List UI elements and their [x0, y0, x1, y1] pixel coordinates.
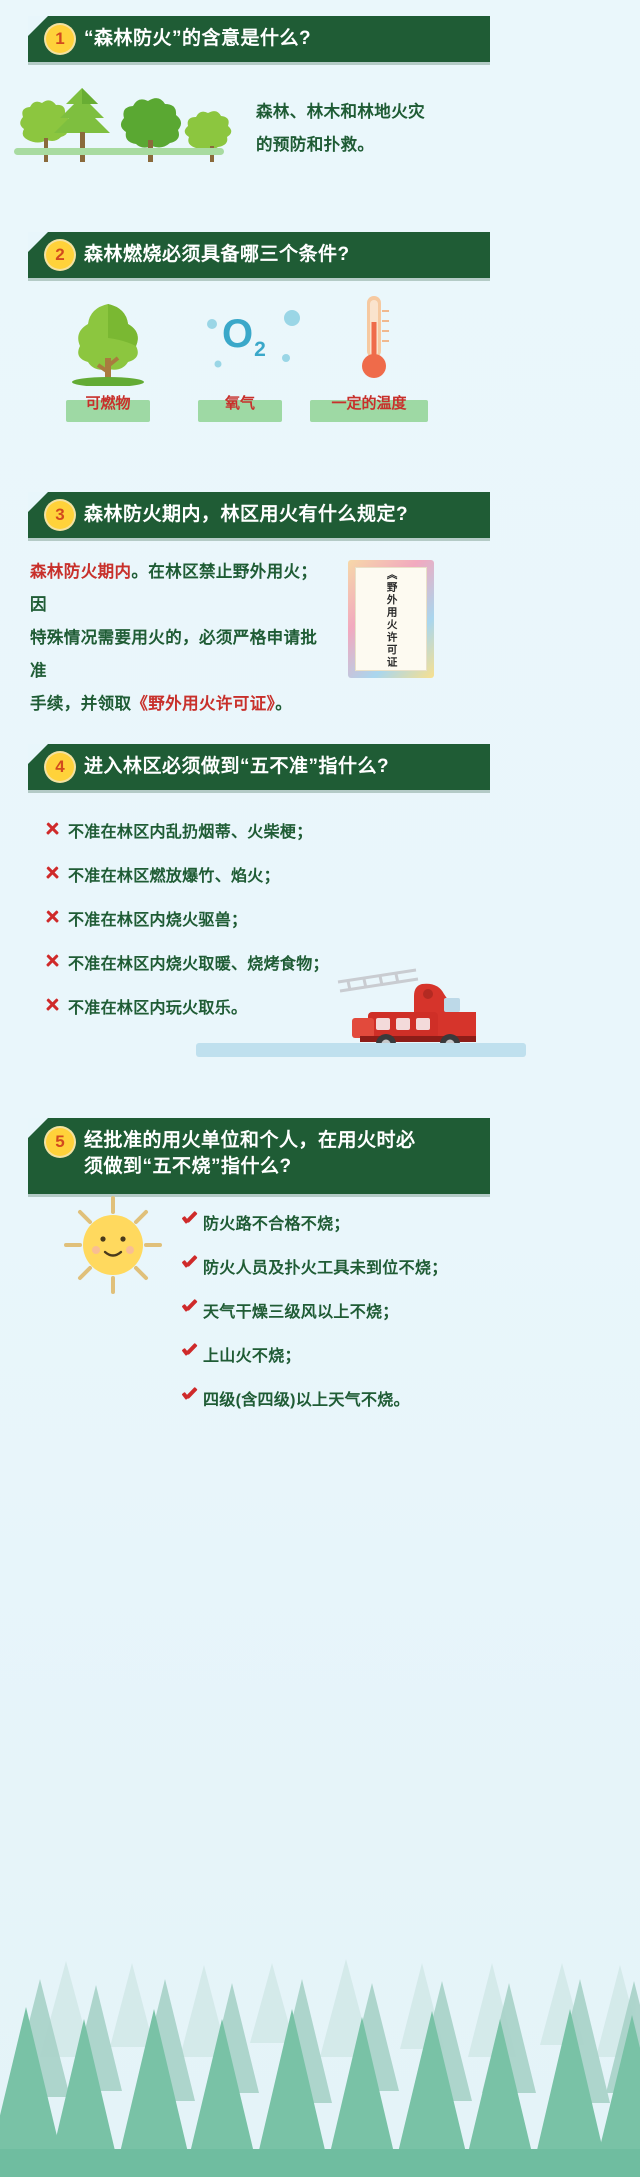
section-4-number: 4	[46, 753, 74, 781]
section-3-header: 3 森林防火期内，林区用火有什么规定?	[28, 492, 490, 538]
x-mark-icon	[44, 908, 61, 925]
section-1-answer: 森林、林木和林地火灾 的预防和扑救。	[256, 96, 456, 162]
check-mark-icon	[180, 1211, 198, 1229]
rule-item: 不准在林区内烧火取暖、烧烤食物；	[44, 950, 329, 974]
x-mark-icon	[44, 864, 61, 881]
section-5-header: 5 经批准的用火单位和个人，在用火时必 须做到“五不烧”指什么?	[28, 1118, 490, 1194]
section-2-header: 2 森林燃烧必须具备哪三个条件?	[28, 232, 490, 278]
burn-rule-item: 天气干燥三级风以上不烧；	[180, 1298, 399, 1322]
section-3-number: 3	[46, 501, 74, 529]
section-5-title-line-1: 经批准的用火单位和个人，在用火时必	[84, 1128, 416, 1154]
burn-rule-label: 四级(含四级)以上天气不烧。	[203, 1386, 410, 1410]
burn-rule-label: 天气干燥三级风以上不烧；	[203, 1298, 399, 1322]
rule-item-label: 不准在林区内乱扔烟蒂、火柴梗；	[68, 818, 313, 842]
burn-rule-item: 上山火不烧；	[180, 1342, 301, 1366]
section-5-number: 5	[46, 1128, 74, 1156]
o2-symbol: O	[222, 312, 254, 356]
section-2-number: 2	[46, 241, 74, 269]
condition-label-2: 氧气	[198, 388, 282, 417]
o2-molecule-icon: O2	[196, 306, 306, 386]
permit-card-text: 《野外用火许可证	[384, 569, 397, 669]
permit-card-illustration: 《野外用火许可证	[348, 560, 434, 678]
condition-label-3: 一定的温度	[310, 388, 428, 417]
fire-truck-illustration	[330, 960, 510, 1055]
burn-rule-item: 四级(含四级)以上天气不烧。	[180, 1386, 410, 1410]
x-mark-icon	[44, 996, 61, 1013]
section-1-answer-line-2: 的预防和扑救。	[256, 129, 456, 162]
section-5-title-line-2: 须做到“五不烧”指什么?	[84, 1154, 416, 1180]
sun-illustration	[58, 1190, 168, 1300]
rule-item: 不准在林区内乱扔烟蒂、火柴梗；	[44, 818, 313, 842]
section-4-header: 4 进入林区必须做到“五不准”指什么?	[28, 744, 490, 790]
permit-card-inner: 《野外用火许可证	[355, 567, 427, 671]
section-2-title: 森林燃烧必须具备哪三个条件?	[84, 242, 350, 268]
section-3-title: 森林防火期内，林区用火有什么规定?	[84, 502, 408, 528]
rule-item-label: 不准在林区内玩火取乐。	[68, 994, 247, 1018]
burn-rule-label: 防火路不合格不烧；	[203, 1210, 350, 1234]
pine-forest-silhouette	[0, 1757, 640, 2177]
x-mark-icon	[44, 952, 61, 969]
rule-item: 不准在林区燃放爆竹、焰火；	[44, 862, 280, 886]
burn-rule-item: 防火人员及扑火工具未到位不烧；	[180, 1254, 448, 1278]
infographic-page: 1 “森林防火”的含意是什么? 森林、林木和林地火灾 的预防和扑救。 2 森林燃…	[0, 0, 640, 2177]
ground-strip	[14, 148, 224, 155]
section-3-body-line-2: 特殊情况需要用火的，必须严格申请批准	[30, 622, 330, 688]
burn-rule-label: 上山火不烧；	[203, 1342, 301, 1366]
check-mark-icon	[180, 1255, 198, 1273]
o2-subscript: 2	[254, 338, 267, 361]
rule-item-label: 不准在林区内烧火驱兽；	[68, 906, 247, 930]
burn-rule-item: 防火路不合格不烧；	[180, 1210, 350, 1234]
section-1-number: 1	[46, 25, 74, 53]
check-mark-icon	[180, 1299, 198, 1317]
section-1-header: 1 “森林防火”的含意是什么?	[28, 16, 490, 62]
rule-item: 不准在林区内烧火驱兽；	[44, 906, 247, 930]
condition-label-1: 可燃物	[66, 388, 150, 417]
check-mark-icon	[180, 1387, 198, 1405]
section-3-body-line-1: 森林防火期内。在林区禁止野外用火；因	[30, 556, 330, 622]
section-4-title: 进入林区必须做到“五不准”指什么?	[84, 754, 389, 780]
check-mark-icon	[180, 1343, 198, 1361]
section-3-body: 森林防火期内。在林区禁止野外用火；因 特殊情况需要用火的，必须严格申请批准 手续…	[30, 556, 330, 721]
rule-item: 不准在林区内玩火取乐。	[44, 994, 247, 1018]
section-3-body-period: 。	[275, 695, 292, 713]
section-3-body-line-3: 手续，并领取《野外用火许可证》。	[30, 688, 330, 721]
rule-item-label: 不准在林区燃放爆竹、焰火；	[68, 862, 280, 886]
section-1-answer-line-1: 森林、林木和林地火灾	[256, 96, 456, 129]
rule-item-label: 不准在林区内烧火取暖、烧烤食物；	[68, 950, 329, 974]
section-5-title: 经批准的用火单位和个人，在用火时必 须做到“五不烧”指什么?	[84, 1128, 416, 1179]
thermometer-icon	[352, 292, 396, 388]
section-3-body-rest-2: 手续，并领取	[30, 695, 131, 713]
road-strip	[196, 1043, 526, 1057]
burn-rule-label: 防火人员及扑火工具未到位不烧；	[203, 1254, 448, 1278]
section-3-permit-term: 《野外用火许可证》	[131, 695, 275, 713]
x-mark-icon	[44, 820, 61, 837]
tree-icon	[62, 300, 154, 386]
section-1-title: “森林防火”的含意是什么?	[84, 26, 311, 52]
section-3-highlight-term: 森林防火期内	[30, 563, 131, 581]
